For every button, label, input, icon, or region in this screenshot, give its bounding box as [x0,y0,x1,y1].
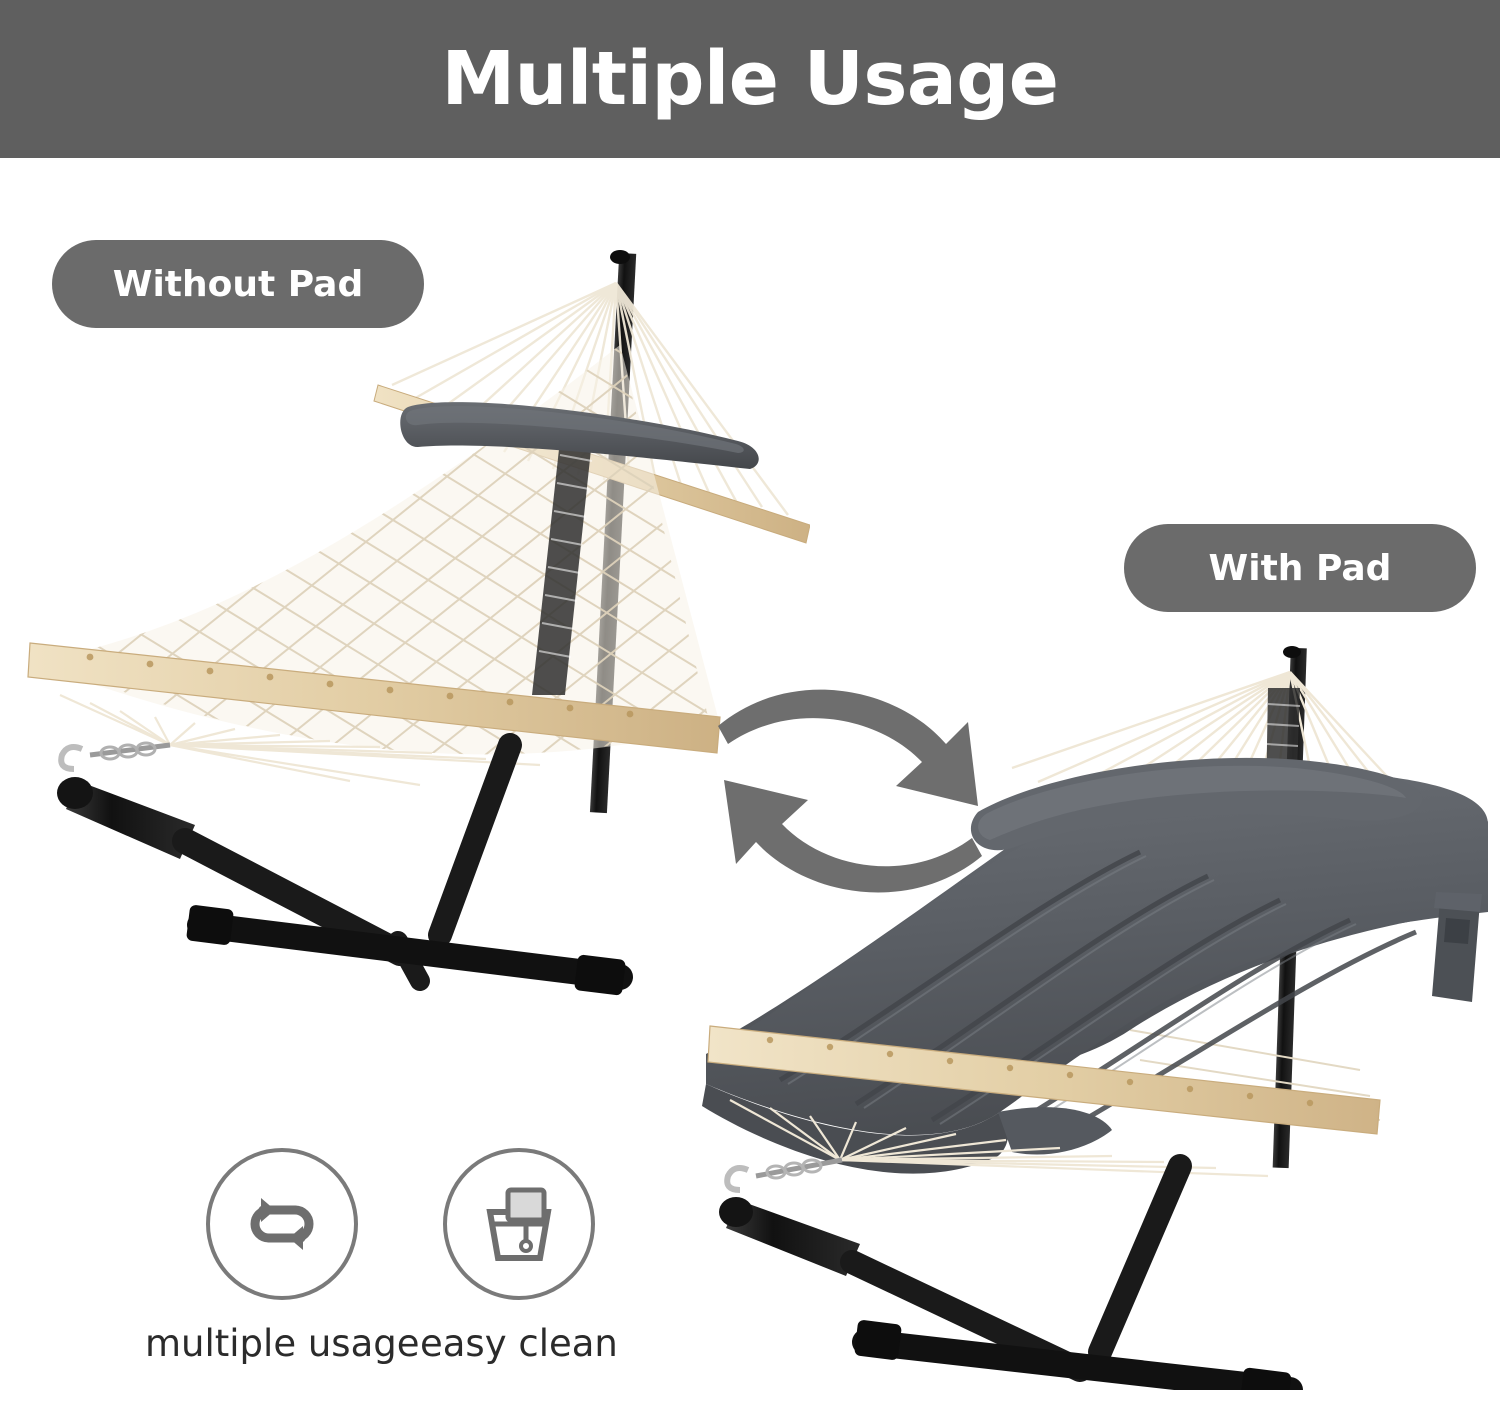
header-banner: Multiple Usage [0,0,1500,158]
badge-without-pad: Without Pad [52,240,424,328]
steel-stand-base [719,1166,1292,1390]
feature-easy-clean: easy clean [420,1148,618,1365]
feature-multiple-usage-label: multiple usage [145,1322,420,1365]
feature-easy-clean-label: easy clean [420,1322,618,1365]
badge-with-pad-label: With Pad [1209,548,1392,589]
badge-without-pad-label: Without Pad [113,264,363,305]
feature-multiple-usage: multiple usage [145,1148,420,1365]
feature-multiple-usage-circle [206,1148,358,1300]
transition-arrows [700,660,1000,965]
side-pocket [1432,892,1482,1002]
chain-hook [61,743,170,769]
product-feature-image: Multiple Usage [0,0,1500,1410]
page-title: Multiple Usage [442,42,1059,116]
badge-with-pad: With Pad [1124,524,1476,612]
bucket-cleaning-icon [474,1184,564,1264]
chain-hook [727,1160,842,1190]
feature-easy-clean-circle [443,1148,595,1300]
recycle-loop-icon [239,1188,325,1260]
